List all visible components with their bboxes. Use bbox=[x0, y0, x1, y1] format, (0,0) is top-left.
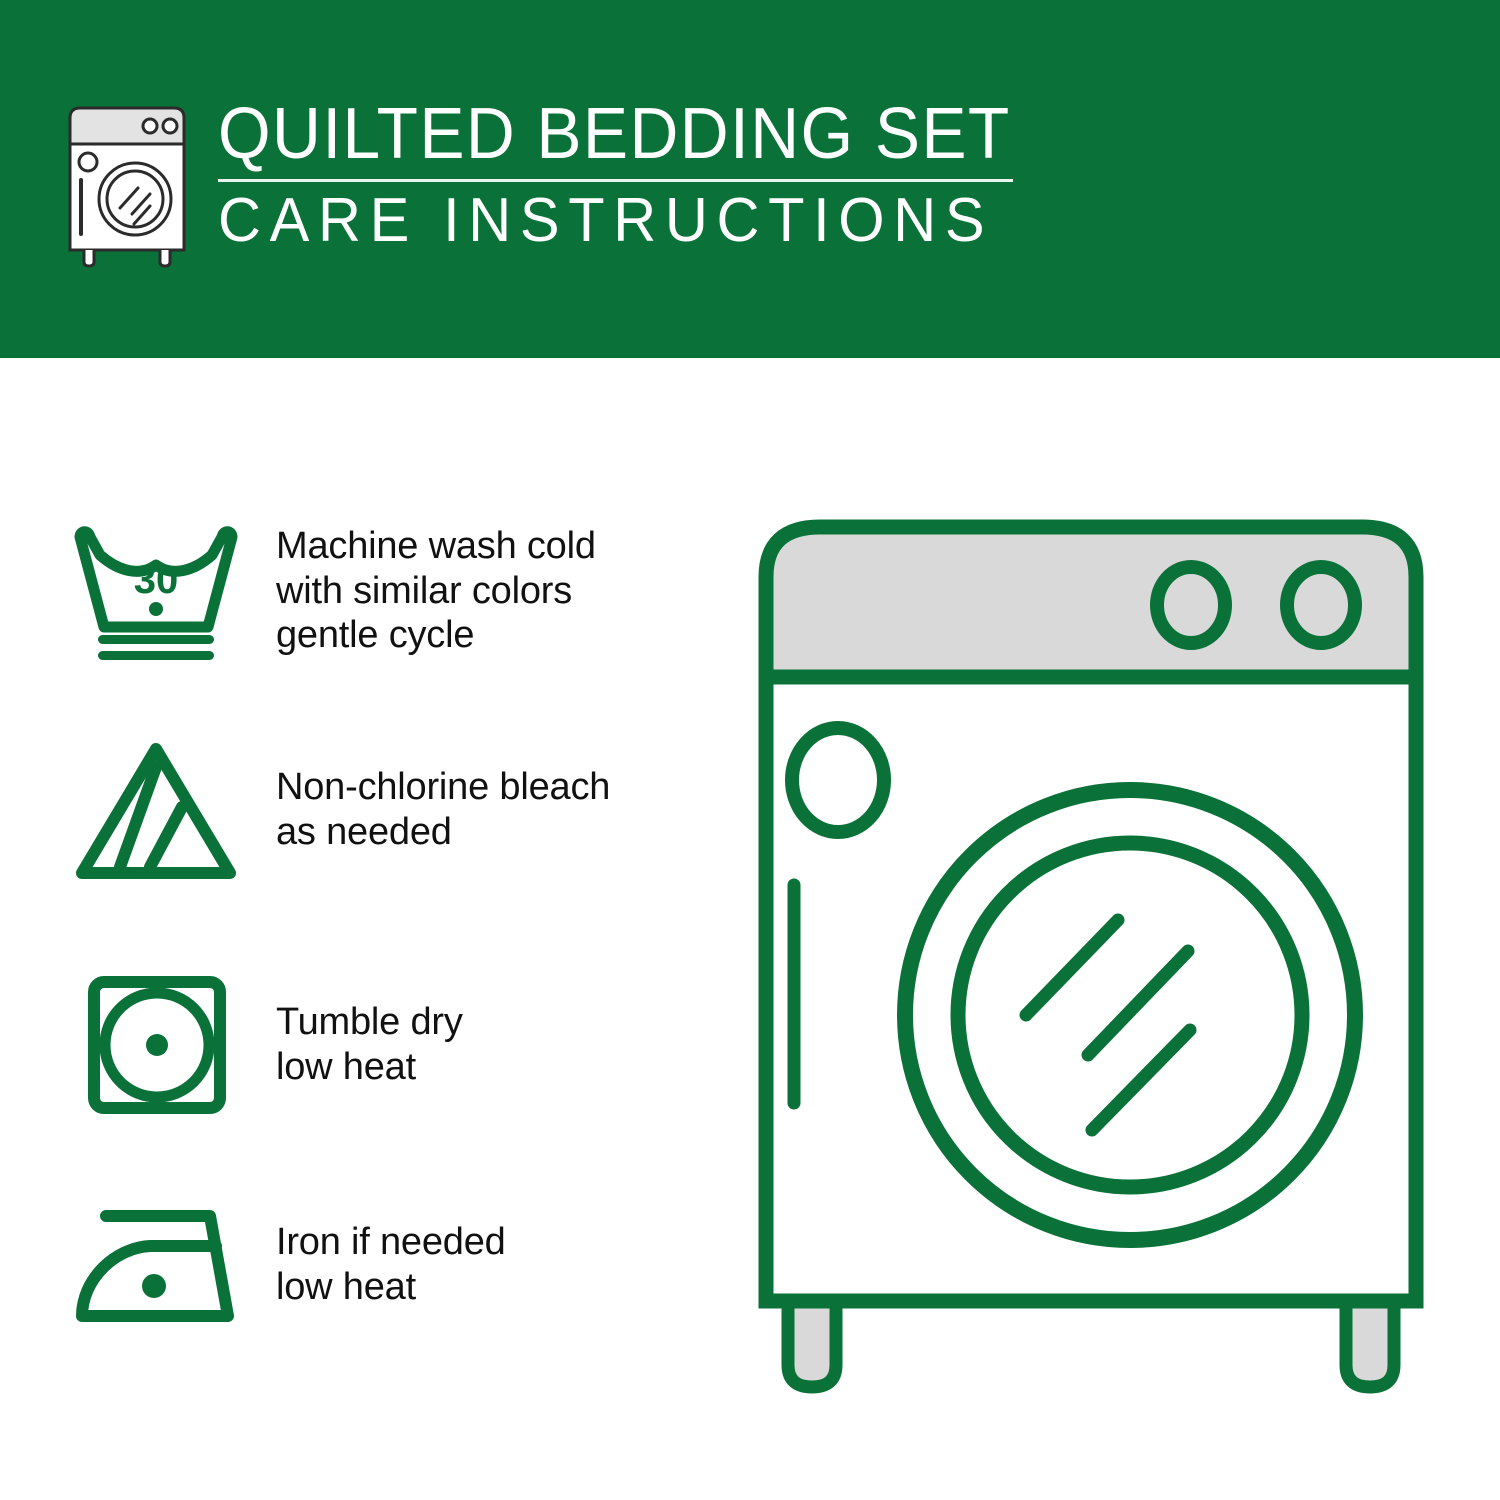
page-subtitle: CARE INSTRUCTIONS bbox=[218, 190, 1028, 252]
care-label-tumble-dry: Tumble dry low heat bbox=[276, 1000, 730, 1090]
header-banner: QUILTED BEDDING SET CARE INSTRUCTIONS bbox=[0, 0, 1500, 358]
care-label-iron: Iron if needed low heat bbox=[276, 1220, 730, 1310]
care-row-tumble-dry: Tumble dry low heat bbox=[70, 970, 730, 1120]
detergent-drawer-knob bbox=[792, 728, 884, 832]
non-chlorine-bleach-triangle-icon bbox=[70, 735, 242, 885]
title-divider bbox=[218, 179, 1013, 182]
header-text-block: QUILTED BEDDING SET CARE INSTRUCTIONS bbox=[218, 100, 1062, 252]
tumble-dry-low-icon bbox=[70, 970, 242, 1120]
washing-machine-icon bbox=[62, 104, 192, 269]
care-row-bleach: Non-chlorine bleach as needed bbox=[70, 735, 730, 885]
control-knob-right bbox=[1287, 567, 1355, 643]
care-label-bleach: Non-chlorine bleach as needed bbox=[276, 765, 730, 855]
page-title: QUILTED BEDDING SET bbox=[218, 100, 1011, 169]
care-row-iron: Iron if needed low heat bbox=[70, 1190, 730, 1340]
large-washing-machine-illustration bbox=[740, 495, 1460, 1425]
care-instructions-page: QUILTED BEDDING SET CARE INSTRUCTIONS 30 bbox=[0, 0, 1500, 1500]
care-label-machine-wash: Machine wash cold with similar colors ge… bbox=[276, 524, 730, 658]
wash-tub-30-gentle-icon: 30 bbox=[70, 516, 242, 666]
iron-low-heat-icon bbox=[70, 1190, 242, 1340]
wash-temp-value: 30 bbox=[134, 558, 179, 602]
care-row-machine-wash: 30 Machine wash cold with similar colors… bbox=[70, 516, 730, 666]
header-content: QUILTED BEDDING SET CARE INSTRUCTIONS bbox=[62, 100, 1062, 280]
control-knob-left bbox=[1157, 567, 1225, 643]
